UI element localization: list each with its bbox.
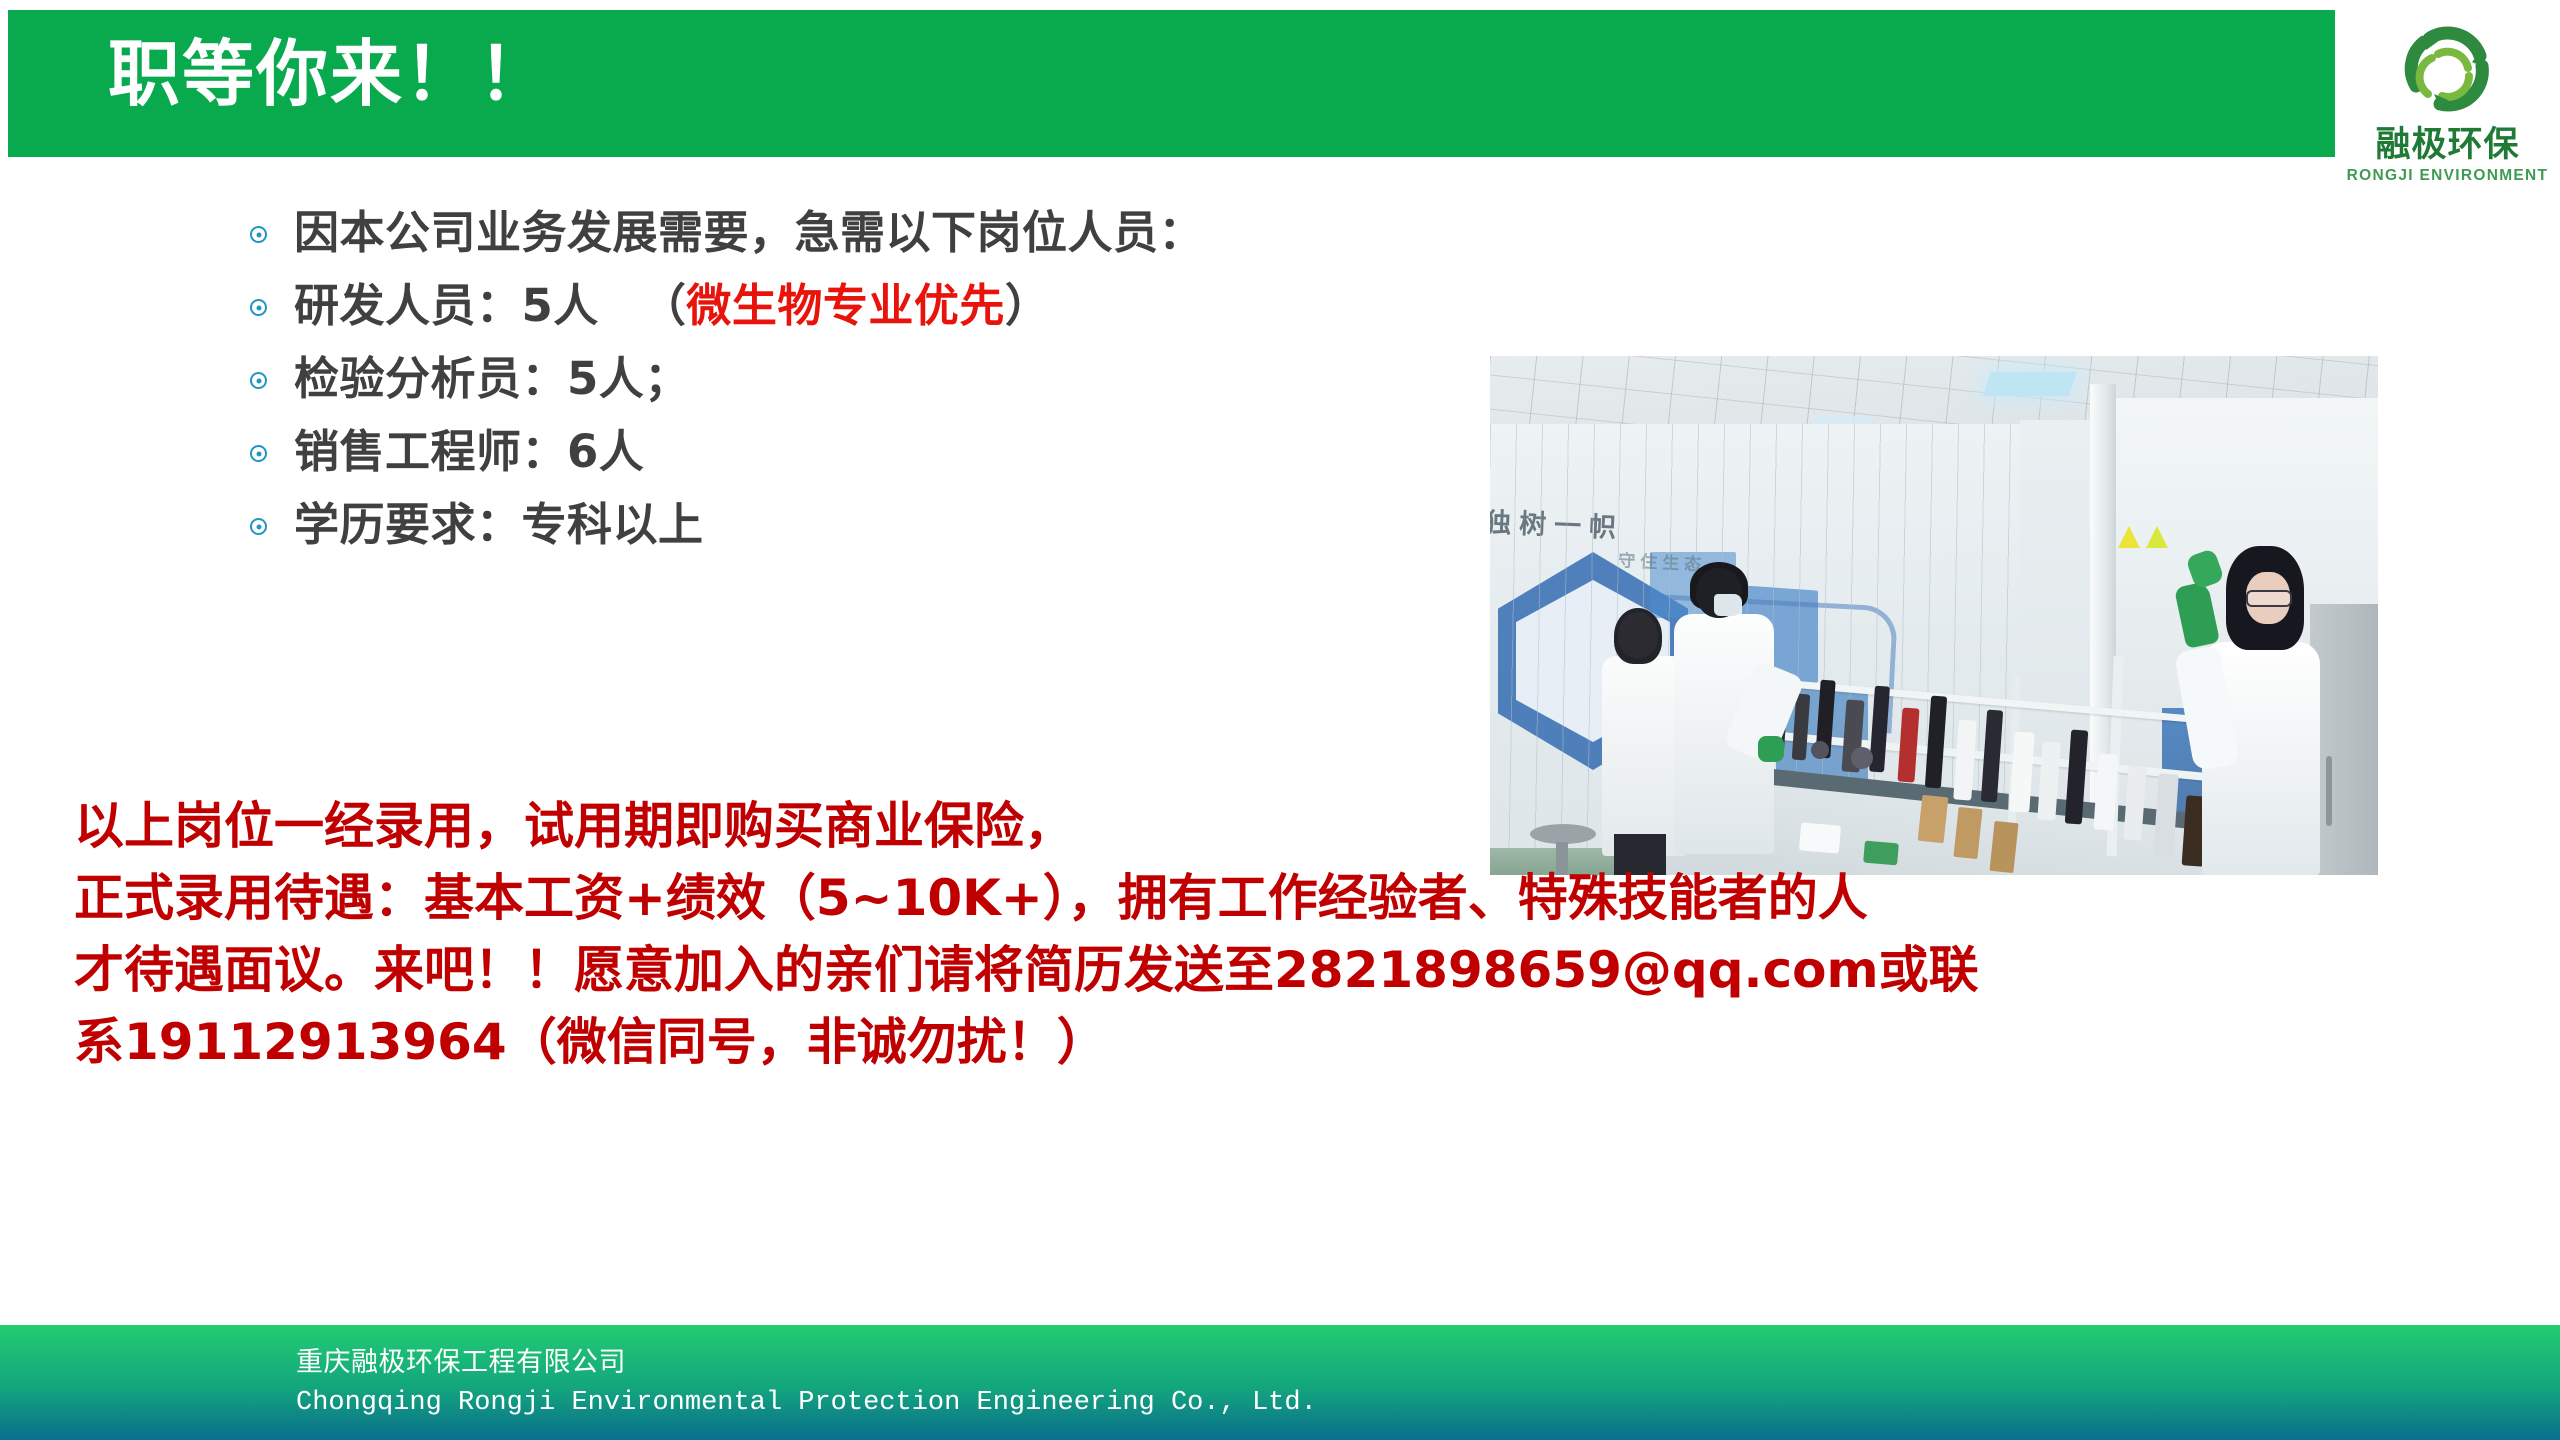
list-item: 学历要求：专科以上: [250, 488, 1500, 561]
footer-company-english: Chongqing Rongji Environmental Protectio…: [296, 1385, 1317, 1421]
list-item: 销售工程师：6人: [250, 415, 1500, 488]
logo-english-name: RONGJI ENVIRONMENT: [2347, 166, 2549, 186]
red-line-2: 正式录用待遇：基本工资+绩效（5~10K+），拥有工作经验者、特殊技能者的人: [74, 862, 2504, 934]
bullet-rd-text: 研发人员：5人: [294, 279, 599, 332]
recruitment-details-paragraph: 以上岗位一经录用，试用期即购买商业保险， 正式录用待遇：基本工资+绩效（5~10…: [74, 790, 2504, 1078]
page-title: 职等你来！！: [108, 28, 552, 120]
logo-chinese-name: 融极环保: [2375, 126, 2519, 164]
bullet-dot-icon: [250, 441, 294, 462]
bullet-rd-highlight: 微生物专业优先: [686, 279, 1005, 332]
bullet-sales-text: 销售工程师：6人: [294, 419, 644, 485]
recycling-circle-arrows-icon: [2394, 16, 2502, 124]
red-line-4: 系19112913964（微信同号，非诚勿扰！）: [74, 1006, 2504, 1078]
list-item: 研发人员：5人（微生物专业优先）: [250, 269, 1500, 342]
bullet-qa-text: 检验分析员：5人；: [294, 346, 690, 412]
photo-person-head: [1618, 612, 1658, 658]
job-bullet-list: 因本公司业务发展需要，急需以下岗位人员： 研发人员：5人（微生物专业优先） 检验…: [250, 196, 1500, 561]
photo-person-mask: [1714, 594, 1742, 616]
list-item: 检验分析员：5人；: [250, 342, 1500, 415]
red-line-3: 才待遇面议。来吧！！愿意加入的亲们请将简历发送至2821898659@qq.co…: [74, 934, 2504, 1006]
paren-open: （: [641, 279, 687, 332]
footer-company-chinese: 重庆融极环保工程有限公司: [296, 1345, 626, 1381]
bullet-intro-text: 因本公司业务发展需要，急需以下岗位人员：: [294, 200, 1204, 266]
footer-bar: [0, 1325, 2560, 1440]
photo-ceiling-light: [1983, 372, 2077, 396]
bullet-dot-icon: [250, 514, 294, 535]
bullet-dot-icon: [250, 295, 294, 316]
list-item: 因本公司业务发展需要，急需以下岗位人员：: [250, 196, 1500, 269]
company-logo: 融极环保 RONGJI ENVIRONMENT: [2335, 6, 2560, 201]
paren-close: ）: [1005, 279, 1051, 332]
red-line-1: 以上岗位一经录用，试用期即购买商业保险，: [74, 790, 2504, 862]
photo-person-glasses: [2246, 590, 2292, 607]
bullet-rd-row: 研发人员：5人（微生物专业优先）: [294, 273, 1050, 339]
bullet-education-text: 学历要求：专科以上: [294, 492, 704, 558]
photo-person-glove: [1758, 736, 1784, 762]
bullet-dot-icon: [250, 368, 294, 389]
bullet-dot-icon: [250, 222, 294, 243]
